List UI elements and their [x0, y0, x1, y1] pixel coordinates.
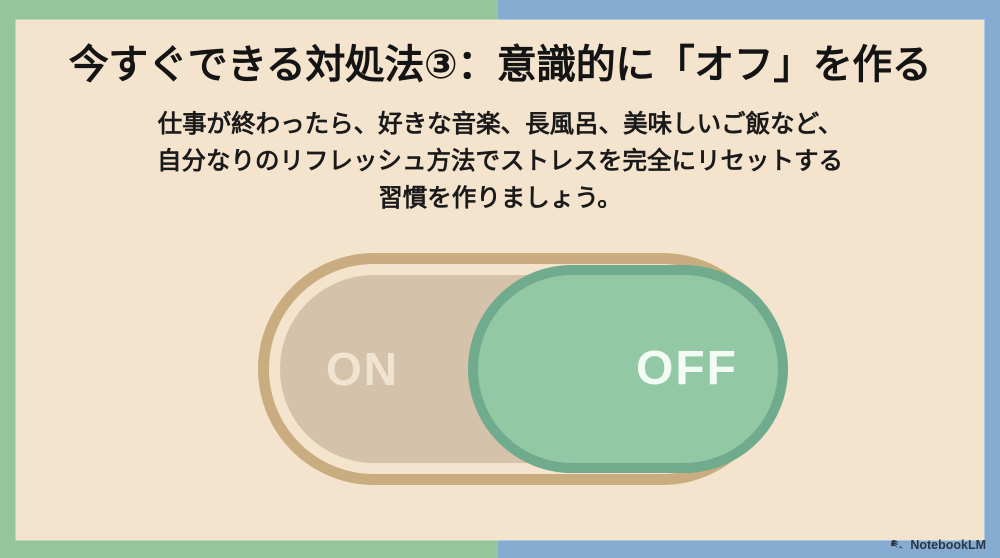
slide-canvas: 今すぐできる対処法③：意識的に「オフ」を作る 仕事が終わったら、好きな音楽、長風…	[0, 0, 1000, 558]
page-title: 今すぐできる対処法③：意識的に「オフ」を作る	[16, 42, 984, 88]
toggle-label-off: OFF	[636, 345, 738, 393]
watermark: NotebookLM	[890, 538, 986, 552]
toggle-track[interactable]: ON OFF	[280, 275, 756, 463]
subtitle-line-3: 習慣を作りましょう。	[100, 180, 900, 217]
watermark-label: NotebookLM	[910, 538, 986, 552]
toggle-label-on: ON	[326, 346, 399, 392]
content-panel: 今すぐできる対処法③：意識的に「オフ」を作る 仕事が終わったら、好きな音楽、長風…	[16, 20, 984, 540]
subtitle-block: 仕事が終わったら、好きな音楽、長風呂、美味しいご飯など、 自分なりのリフレッシュ…	[100, 106, 900, 218]
notebooklm-icon	[890, 539, 905, 552]
subtitle-line-1: 仕事が終わったら、好きな音楽、長風呂、美味しいご飯など、	[100, 106, 900, 143]
subtitle-line-2: 自分なりのリフレッシュ方法でストレスを完全にリセットする	[100, 143, 900, 180]
on-off-toggle[interactable]: ON OFF	[258, 253, 778, 485]
toggle-knob[interactable]: OFF	[468, 265, 788, 473]
